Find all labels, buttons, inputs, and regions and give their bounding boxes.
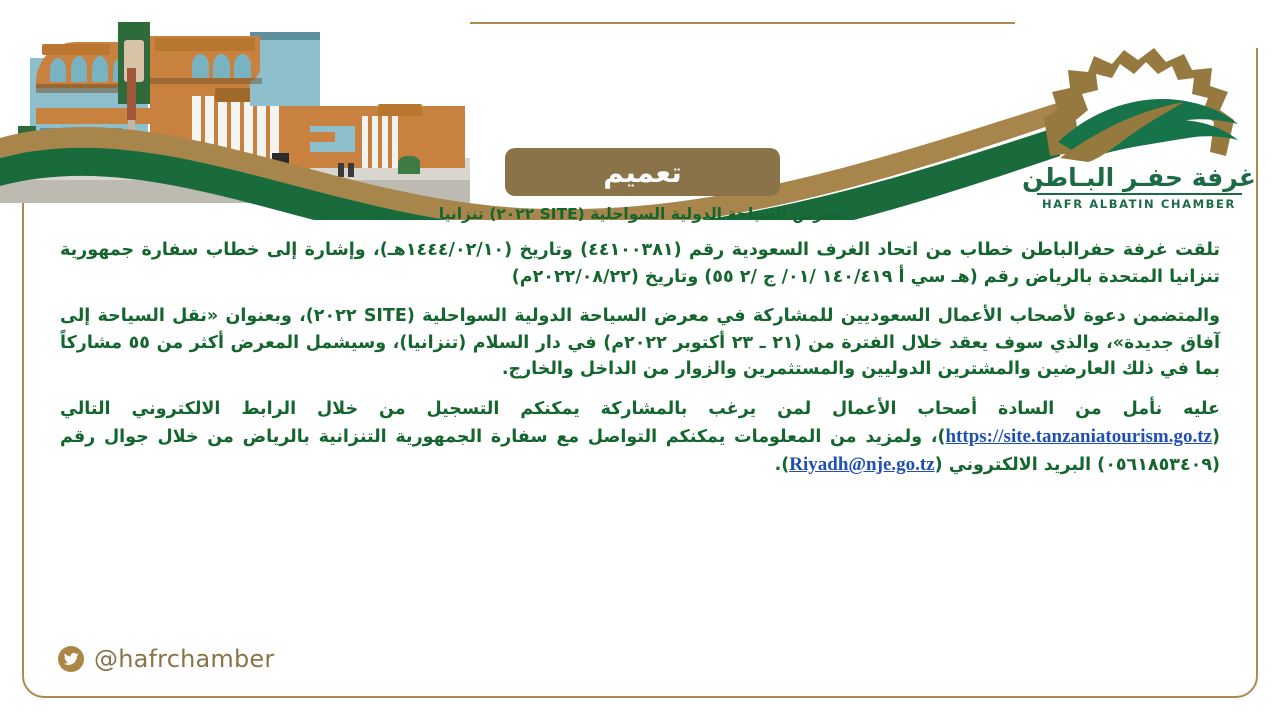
circular-document: غرفة حفـر البـاطن HAFR ALBATIN CHAMBER ت… bbox=[0, 0, 1280, 720]
embassy-email-link[interactable]: Riyadh@nje.go.tz bbox=[789, 454, 934, 475]
chamber-logo: غرفة حفـر البـاطن HAFR ALBATIN CHAMBER bbox=[1014, 44, 1264, 214]
paragraph-1: تلقت غرفة حفرالباطن خطاب من اتحاد الغرف … bbox=[60, 237, 1220, 290]
closing-middle-text: ، ولمزيد من المعلومات يمكنكم التواصل مع … bbox=[60, 427, 937, 447]
chamber-logo-mark bbox=[1014, 44, 1264, 162]
embassy-phone-number: ٠٥٦١٨٥٣٤٠٩ bbox=[1105, 455, 1212, 475]
paragraph-2: والمتضمن دعوة لأصحاب الأعمال السعوديين ل… bbox=[60, 303, 1220, 383]
document-body: معرض السياحة الدولية السواحلية (SITE ٢٠٢… bbox=[60, 205, 1220, 493]
document-subtitle: معرض السياحة الدولية السواحلية (SITE ٢٠٢… bbox=[60, 205, 1220, 223]
circular-title-text: تعميم bbox=[603, 156, 681, 189]
logo-divider bbox=[1037, 193, 1242, 195]
twitter-handle-text: @hafrchamber bbox=[94, 645, 274, 673]
paragraph-closing: عليه نأمل من السادة أصحاب الأعمال لمن ير… bbox=[60, 396, 1220, 480]
twitter-bird-icon bbox=[58, 646, 84, 672]
frame-mask-right bbox=[1015, 0, 1280, 48]
closing-lead-text: عليه نأمل من السادة أصحاب الأعمال لمن ير… bbox=[60, 399, 1220, 419]
registration-website-link[interactable]: https://site.tanzaniatourism.go.tz bbox=[945, 426, 1212, 447]
twitter-footer[interactable]: @hafrchamber bbox=[58, 645, 274, 673]
email-label: البريد الالكتروني bbox=[949, 455, 1091, 475]
logo-arabic-text: غرفة حفـر البـاطن bbox=[1014, 163, 1264, 192]
circular-title-badge: تعميم bbox=[505, 148, 780, 196]
